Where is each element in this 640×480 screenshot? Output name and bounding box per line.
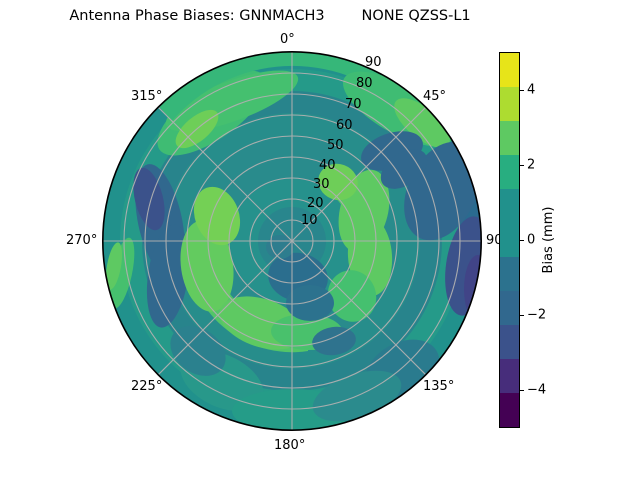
elevation-tick-label: 80 [356,76,373,91]
figure-canvas: Antenna Phase Biases: GNNMACH3 NONE QZSS… [0,0,640,480]
elevation-tick-label: 50 [327,138,344,153]
elevation-tick-label: 40 [319,158,336,173]
colorbar-tick-label: 2 [527,158,535,173]
colorbar-tick-mark [520,390,524,391]
colorbar-tick-mark [520,315,524,316]
azimuth-tick-label: 270° [66,233,97,248]
colorbar-tick-label: 0 [527,233,535,248]
colorbar-band [500,325,519,359]
colorbar-band [500,291,519,325]
colorbar-tick-label: −2 [527,308,546,323]
polar-plot-axes[interactable] [102,51,482,431]
polar-field-svg [102,51,482,431]
azimuth-tick-label: 135° [423,379,454,394]
elevation-tick-label: 60 [336,118,353,133]
colorbar[interactable] [499,52,520,428]
colorbar-tick-mark [520,240,524,241]
elevation-tick-label: 70 [345,97,362,112]
colorbar-band [500,53,519,87]
colorbar-band [500,223,519,257]
page-title: Antenna Phase Biases: GNNMACH3 NONE QZSS… [0,7,540,25]
elevation-tick-label: 20 [307,196,324,211]
azimuth-tick-label: 0° [280,32,295,47]
colorbar-tick-label: −4 [527,383,546,398]
colorbar-band [500,87,519,121]
colorbar-tick-mark [520,165,524,166]
colorbar-axis-label: Bias (mm) [541,207,556,274]
azimuth-tick-label: 315° [131,89,162,104]
elevation-tick-label: 30 [313,177,330,192]
colorbar-band [500,121,519,155]
polar-grid [103,52,481,430]
azimuth-tick-label: 180° [274,438,305,453]
colorbar-tick-mark [520,90,524,91]
colorbar-band [500,393,519,427]
azimuth-tick-label: 225° [131,379,162,394]
elevation-tick-label: 90 [365,55,382,70]
colorbar-band [500,189,519,223]
colorbar-band [500,257,519,291]
colorbar-tick-label: 4 [527,83,535,98]
colorbar-band [500,359,519,393]
azimuth-tick-label: 45° [423,89,446,104]
colorbar-band [500,155,519,189]
elevation-tick-label: 10 [301,213,318,228]
